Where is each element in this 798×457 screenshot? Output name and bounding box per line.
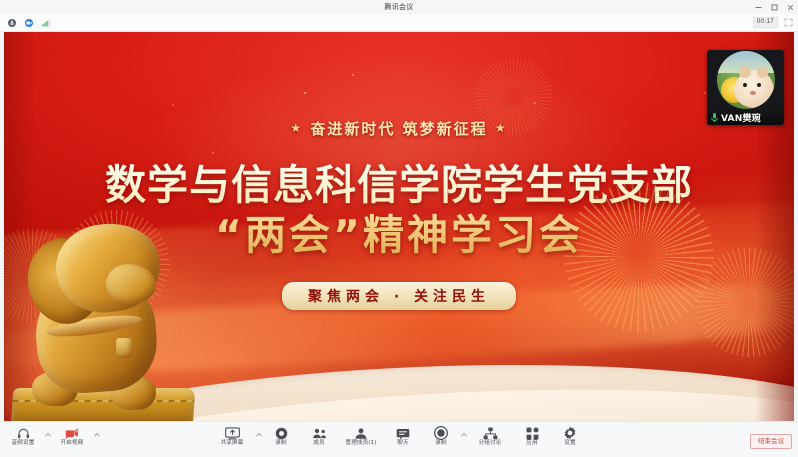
mic-on-icon bbox=[710, 112, 719, 123]
manage-members-label: 管理成员(1) bbox=[346, 441, 377, 447]
spark-dot bbox=[304, 92, 306, 94]
status-bar-right: 00:17 bbox=[753, 14, 793, 31]
gear-icon bbox=[563, 426, 577, 440]
breakout-rooms-label: 分组讨论 bbox=[479, 441, 502, 447]
record-circle-icon bbox=[434, 426, 448, 440]
spark-dot bbox=[352, 74, 354, 76]
presentation-slide: ★ 奋进新时代 筑梦新征程 ★ 数学与信息科信学院学生党支部 “两会”精神学习会… bbox=[4, 32, 794, 422]
audio-settings-label: 音频设置 bbox=[12, 441, 35, 447]
spark-dot bbox=[212, 152, 214, 154]
record-button[interactable]: 录制 bbox=[262, 424, 300, 447]
share-chevron-up-icon[interactable] bbox=[255, 431, 262, 438]
record-label: 录制 bbox=[275, 441, 286, 447]
slide-title-line2: “两会”精神学习会 bbox=[4, 210, 794, 260]
meeting-window: 腾讯会议 bbox=[0, 0, 798, 457]
slide-banner: 聚焦两会 · 关注民生 bbox=[282, 282, 516, 310]
audio-chevron-up-icon[interactable] bbox=[44, 431, 51, 438]
participant-name: VAN樊琬 bbox=[721, 111, 761, 124]
close-icon[interactable] bbox=[786, 3, 795, 12]
status-bar-left bbox=[7, 14, 51, 31]
breakout-rooms-button[interactable]: 分组讨论 bbox=[467, 424, 513, 447]
record-circle-label: 录制 bbox=[435, 441, 446, 447]
apps-button[interactable]: 应用 bbox=[513, 424, 551, 447]
settings-label: 设置 bbox=[564, 441, 575, 447]
participant-name-bar: VAN樊琬 bbox=[707, 109, 784, 125]
avatar-hamster bbox=[734, 70, 774, 108]
camera-icon[interactable] bbox=[24, 18, 34, 28]
share-screen-label: 共享屏幕 bbox=[221, 441, 244, 447]
spark-dot bbox=[172, 104, 174, 106]
participant-video-tile[interactable]: VAN樊琬 bbox=[707, 50, 784, 125]
members-button[interactable]: 成员 bbox=[300, 424, 338, 447]
members-icon bbox=[312, 426, 327, 440]
slide-title-line1: 数学与信息科信学院学生党支部 bbox=[4, 160, 794, 210]
minimize-icon[interactable] bbox=[754, 3, 763, 12]
audio-settings-button[interactable]: 音频设置 bbox=[4, 424, 42, 447]
apps-grid-icon bbox=[526, 426, 539, 440]
members-label: 成员 bbox=[313, 441, 324, 447]
manage-members-button[interactable]: 管理成员(1) bbox=[338, 424, 384, 447]
slide-kicker-text: 奋进新时代 筑梦新征程 bbox=[310, 120, 487, 138]
record-circle-button[interactable]: 录制 bbox=[422, 424, 460, 447]
hamster-nose bbox=[750, 91, 756, 95]
end-meeting-button[interactable]: 结束会议 bbox=[750, 434, 792, 449]
toolbar-right-group: 结束会议 bbox=[750, 430, 792, 449]
manage-members-icon bbox=[354, 426, 368, 440]
hamster-eye-right bbox=[757, 83, 761, 87]
toolbar-center-group: 共享屏幕 录制 bbox=[209, 424, 589, 447]
lion-muzzle bbox=[106, 264, 156, 304]
start-video-button[interactable]: 开启视频 bbox=[53, 424, 91, 447]
maximize-icon[interactable] bbox=[770, 3, 779, 12]
network-signal-icon bbox=[41, 18, 51, 28]
record-dot-icon bbox=[275, 426, 288, 440]
share-screen-button[interactable]: 共享屏幕 bbox=[209, 424, 255, 447]
mic-muted-icon[interactable] bbox=[7, 18, 17, 28]
slide-title: 数学与信息科信学院学生党支部 “两会”精神学习会 bbox=[4, 160, 794, 260]
fullscreen-icon[interactable] bbox=[784, 18, 793, 27]
hamster-eye-left bbox=[743, 83, 747, 87]
start-video-label: 开启视频 bbox=[61, 441, 84, 447]
star-icon-left: ★ bbox=[290, 121, 303, 135]
chat-button[interactable]: 聊天 bbox=[384, 424, 422, 447]
bottom-toolbar: 音频设置 开启视频 bbox=[0, 421, 798, 457]
camera-off-icon bbox=[65, 426, 79, 440]
chat-icon bbox=[396, 426, 410, 440]
toolbar-left-group: 音频设置 开启视频 bbox=[4, 424, 100, 447]
settings-button[interactable]: 设置 bbox=[551, 424, 589, 447]
record-chevron-up-icon[interactable] bbox=[460, 431, 467, 438]
slide-kicker: ★ 奋进新时代 筑梦新征程 ★ bbox=[4, 118, 794, 139]
meeting-timer: 00:17 bbox=[753, 17, 778, 28]
headset-icon bbox=[17, 426, 30, 440]
spark-dot bbox=[534, 102, 536, 104]
window-title: 腾讯会议 bbox=[384, 2, 413, 12]
shared-screen-stage[interactable]: ★ 奋进新时代 筑梦新征程 ★ 数学与信息科信学院学生党支部 “两会”精神学习会… bbox=[4, 32, 794, 422]
status-bar: 00:17 bbox=[0, 14, 798, 32]
apps-label: 应用 bbox=[526, 441, 537, 447]
lion-bell bbox=[116, 338, 132, 358]
chat-label: 聊天 bbox=[397, 441, 408, 447]
star-icon-right: ★ bbox=[495, 121, 508, 135]
share-screen-icon bbox=[225, 426, 240, 440]
title-bar: 腾讯会议 bbox=[0, 0, 798, 15]
spark-dot bbox=[704, 92, 706, 94]
window-controls bbox=[754, 0, 795, 14]
breakout-rooms-icon bbox=[483, 426, 498, 440]
video-chevron-up-icon[interactable] bbox=[93, 431, 100, 438]
avatar bbox=[717, 51, 775, 109]
slide-banner-text: 聚焦两会 · 关注民生 bbox=[308, 289, 490, 305]
